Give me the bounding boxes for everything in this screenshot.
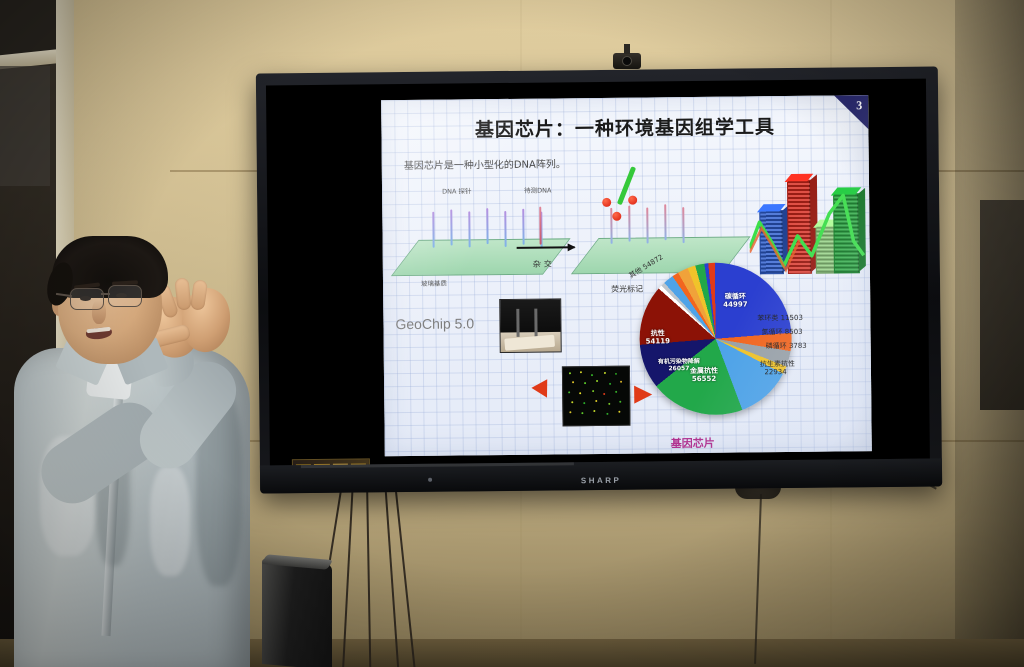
hybridized-probe xyxy=(682,207,684,243)
dna-probe xyxy=(468,211,470,247)
tv-screen[interactable]: 基因芯片：一种环境基因组学工具 基因芯片是一种小型化的DNA阵列。 DNA 探针… xyxy=(266,79,930,466)
eyeglasses-icon xyxy=(108,285,142,307)
hybridized-probe xyxy=(628,206,630,242)
fluorescent-marker xyxy=(628,196,637,205)
hybridized-probe xyxy=(664,204,666,240)
dna-probe xyxy=(486,208,488,244)
webcam-icon xyxy=(613,53,641,69)
presentation-slide[interactable]: 基因芯片：一种环境基因组学工具 基因芯片是一种小型化的DNA阵列。 DNA 探针… xyxy=(381,95,872,456)
dna-probe xyxy=(450,210,452,246)
pie-label-resistance: 抗性54119 xyxy=(646,329,671,345)
door-inner-shadow xyxy=(0,66,50,186)
presenter-nose xyxy=(92,300,106,324)
webcam-lens xyxy=(622,56,632,66)
hybridized-probe xyxy=(646,207,648,243)
tv-power-led xyxy=(428,478,432,482)
tv-brand-logo: SHARP xyxy=(581,476,622,485)
hybridization-label: 杂交 xyxy=(533,258,555,269)
dna-probe xyxy=(522,209,524,245)
probe-label: DNA 探针 xyxy=(442,185,471,195)
presenter-finger xyxy=(174,277,191,310)
microarray-scan-image xyxy=(562,366,631,427)
pie-label-carbon: 碳循环44997 xyxy=(723,292,748,308)
eyeglasses-bridge xyxy=(101,293,110,295)
slide-title: 基因芯片：一种环境基因组学工具 xyxy=(381,111,868,143)
geochip-label: GeoChip 5.0 xyxy=(395,315,474,332)
glass-substrate-left xyxy=(391,238,571,276)
dark-recess-right xyxy=(980,200,1024,410)
pie-label-phosphorus: 磷循环 3783 xyxy=(766,342,807,351)
dna-probe xyxy=(432,212,434,248)
slide-number: 3 xyxy=(856,98,862,113)
pie-label-other: 其他 54872 xyxy=(627,252,665,281)
dna-probe xyxy=(504,211,506,247)
pie-label-organic: 有机污染物降解26057 xyxy=(658,359,700,373)
pie-label-benzene: 苯环类 11503 xyxy=(757,314,803,323)
red-arrow-icon xyxy=(531,379,554,402)
pie-chart: 其他 54872 碳循环44997 金属抗性56552 抗性54119 有机污染… xyxy=(631,254,803,426)
target-dna-label: 待测DNA xyxy=(524,184,551,194)
pie-chart-caption: 基因芯片 xyxy=(671,435,715,451)
target-dna-strand xyxy=(539,207,541,245)
slide-subtitle: 基因芯片是一种小型化的DNA阵列。 xyxy=(404,155,566,172)
fluorescent-marker xyxy=(602,198,611,207)
pie-label-nitrogen: 氮循环 8503 xyxy=(762,328,803,337)
fluorescent-marker xyxy=(612,212,621,221)
screenshot-scene: 基因芯片：一种环境基因组学工具 基因芯片是一种小型化的DNA阵列。 DNA 探针… xyxy=(0,0,1024,667)
presenter xyxy=(0,236,290,667)
tv-wall-mount xyxy=(735,487,781,499)
geochip-instrument-photo xyxy=(499,298,562,353)
hybridization-arrow-icon xyxy=(517,246,575,249)
television[interactable]: 基因芯片：一种环境基因组学工具 基因芯片是一种小型化的DNA阵列。 DNA 探针… xyxy=(256,66,942,493)
slide-number-badge xyxy=(834,95,868,129)
pie-label-antibiotic: 抗生素抗性 22934 xyxy=(760,360,795,377)
substrate-label: 玻璃基质 xyxy=(421,278,447,288)
